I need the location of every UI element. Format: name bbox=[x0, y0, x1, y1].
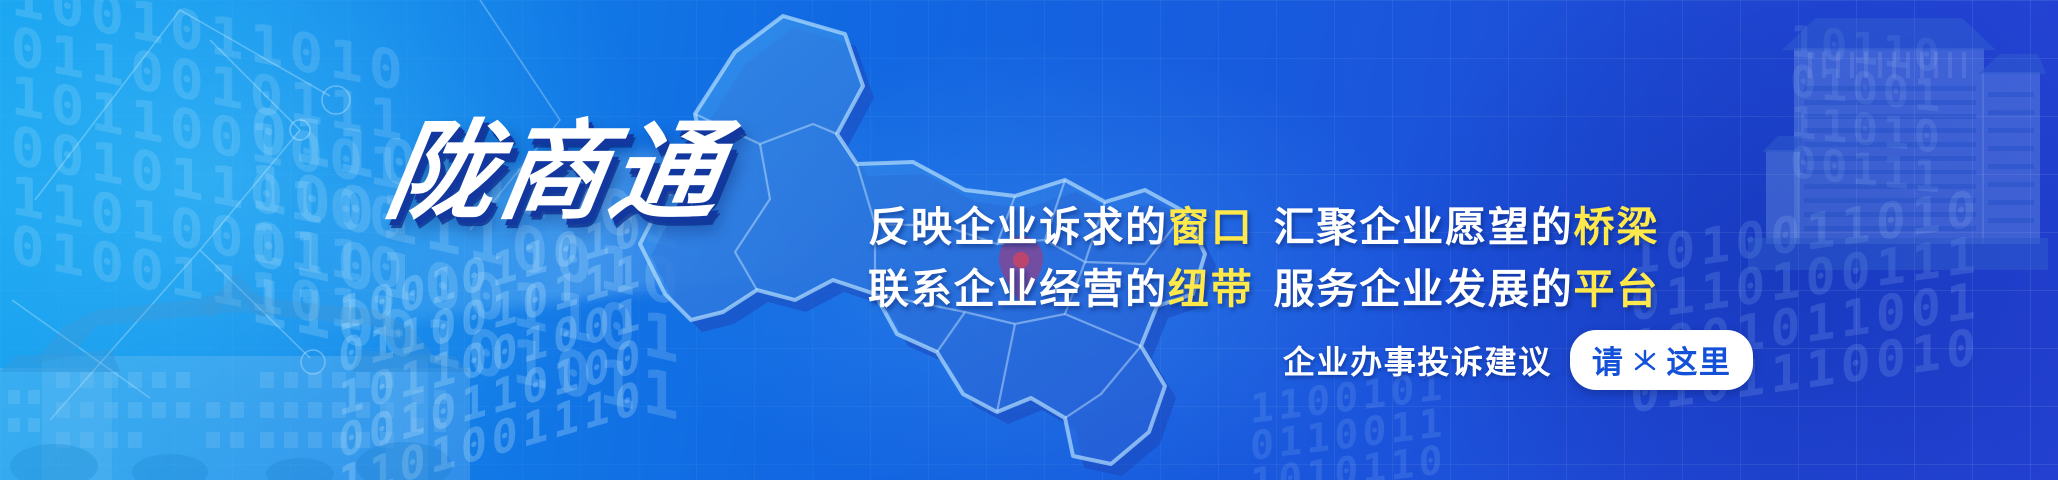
click-burst-icon bbox=[1630, 347, 1660, 377]
brand-title: 陇商通 bbox=[379, 118, 731, 226]
slogan-highlight: 窗口 bbox=[1168, 204, 1254, 250]
slogan-block: 反映企业诉求的窗口汇聚企业愿望的桥梁 联系企业经营的纽带服务企业发展的平台 bbox=[868, 196, 1659, 321]
slogan-highlight: 桥梁 bbox=[1574, 204, 1660, 250]
slogan-highlight: 平台 bbox=[1574, 266, 1660, 312]
slogan-segment: 反映企业诉求的 bbox=[868, 204, 1168, 250]
slogan-line: 反映企业诉求的窗口汇聚企业愿望的桥梁 bbox=[868, 196, 1659, 258]
cta-button-text-before: 请 bbox=[1592, 337, 1625, 382]
slogan-line: 联系企业经营的纽带服务企业发展的平台 bbox=[868, 258, 1659, 320]
cta-label: 企业办事投诉建议 bbox=[1283, 337, 1552, 383]
slogan-segment: 联系企业经营的 bbox=[868, 266, 1168, 312]
banner-content: 陇商通 反映企业诉求的窗口汇聚企业愿望的桥梁 联系企业经营的纽带服务企业发展的平… bbox=[0, 0, 2058, 480]
slogan-segment: 服务企业发展的 bbox=[1274, 266, 1574, 312]
cta-button-text-after: 这里 bbox=[1666, 337, 1731, 382]
lsn-banner: 1001011010 0110010111 1011001001 0010110… bbox=[0, 0, 2058, 480]
slogan-segment: 汇聚企业愿望的 bbox=[1274, 204, 1574, 250]
slogan-highlight: 纽带 bbox=[1168, 266, 1254, 312]
cta-row: 企业办事投诉建议 请 这里 bbox=[1283, 330, 1753, 390]
click-here-button[interactable]: 请 这里 bbox=[1570, 330, 1754, 390]
